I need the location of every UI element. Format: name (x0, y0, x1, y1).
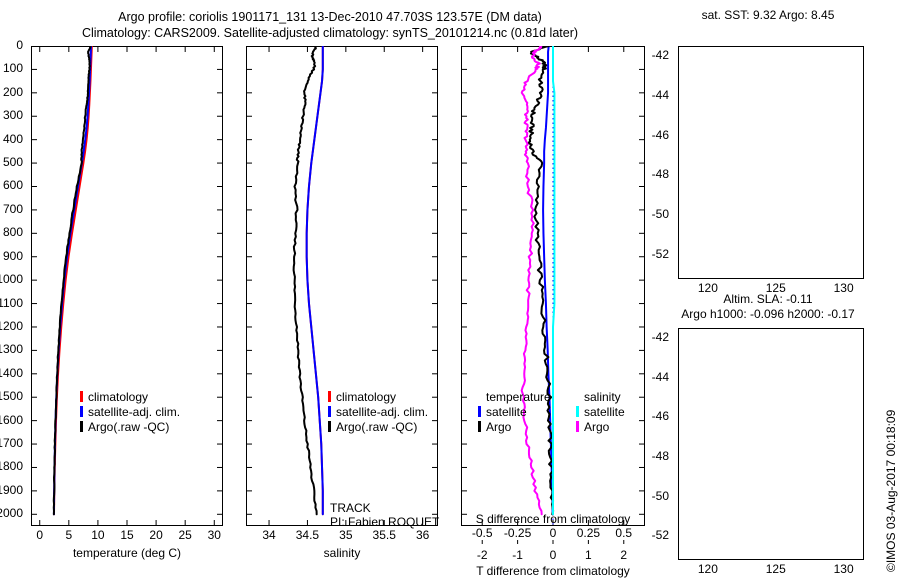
depth-tick-label: 700 (0, 202, 23, 216)
difference-legend-salinity: salinity satellite Argo (576, 390, 625, 435)
temperature-panel (31, 46, 223, 526)
depth-tick-label: 300 (0, 108, 23, 122)
legend-swatch-satellite-adj-s (328, 406, 331, 417)
sst-map-image (678, 46, 864, 279)
s-difference-axis-ticks: -0.5-0.2500.250.5 (461, 526, 645, 542)
depth-tick-label: 1900 (0, 483, 23, 497)
depth-tick-label: 1400 (0, 366, 23, 380)
legend-swatch-satellite-adj (80, 406, 83, 417)
depth-axis-ticks-1: 0100200300400500600700800900100011001200… (0, 46, 28, 526)
sst-lat-tick-label: -48 (636, 167, 669, 181)
sst-lat-tick-label: -52 (636, 247, 669, 261)
temperature-curves (31, 46, 223, 526)
legend-swatch-s-satellite (576, 406, 579, 417)
legend-label-s-satellite: satellite (584, 405, 625, 419)
sla-map-lon-ticks: 120125130 (678, 562, 864, 578)
t-difference-axis-label: T difference from climatology (461, 564, 645, 578)
track-label: TRACK (330, 501, 439, 515)
depth-tick-label: 1300 (0, 342, 23, 356)
salinity-curves (246, 46, 438, 526)
salinity-axis-ticks: 3434.53535.536 (246, 528, 438, 544)
salinity-axis-label: salinity (246, 546, 438, 560)
sla-lon-tick-label: 125 (751, 562, 801, 576)
sst-lat-tick-label: -50 (636, 207, 669, 221)
difference-legend-temperature: temperature satellite Argo (478, 390, 551, 435)
depth-tick-label: 900 (0, 249, 23, 263)
legend-item-climatology: climatology (80, 390, 180, 405)
depth-tick-label: 800 (0, 225, 23, 239)
depth-tick-label: 600 (0, 178, 23, 192)
legend-swatch-climatology-s (328, 391, 331, 402)
legend-item-satellite-adj: satellite-adj. clim. (80, 405, 180, 420)
track-annotation: TRACK PI: Fabien ROQUET (330, 501, 439, 529)
sla-lat-tick-label: -50 (636, 489, 669, 503)
depth-tick-label: 0 (0, 38, 23, 52)
legend-label-climatology-s: climatology (336, 390, 396, 404)
legend-swatch-s-argo (576, 421, 579, 432)
sst-lat-tick-label: -42 (636, 48, 669, 62)
legend-swatch-argo-s (328, 421, 331, 432)
legend-item-climatology-s: climatology (328, 390, 428, 405)
legend-item-s-satellite: satellite (576, 405, 625, 420)
depth-tick-label: 1700 (0, 436, 23, 450)
depth-tick-label: 1600 (0, 413, 23, 427)
depth-tick-label: 1100 (0, 296, 23, 310)
legend-item-s-argo: Argo (576, 420, 625, 435)
figure-title-line1: Argo profile: coriolis 1901171_131 13-De… (0, 10, 660, 24)
legend-label-s-argo: Argo (584, 420, 609, 434)
sst-map[interactable] (678, 46, 864, 279)
difference-panel (461, 46, 645, 526)
sla-map-title-line1: Altim. SLA: -0.11 (668, 292, 868, 306)
sla-map-title-line2: Argo h1000: -0.096 h2000: -0.17 (653, 307, 883, 321)
temperature-axis-label: temperature (deg C) (31, 546, 223, 560)
argo-profile-figure: Argo profile: coriolis 1901171_131 13-De… (0, 0, 900, 580)
sla-map-lat-ticks: -42-44-46-48-50-52 (640, 328, 673, 560)
legend-group-title-temperature: temperature (478, 390, 551, 405)
sla-map-image (678, 328, 864, 560)
temperature-tick-label: 30 (184, 528, 244, 542)
depth-tick-label: 1200 (0, 319, 23, 333)
salinity-tick-label: 36 (393, 528, 453, 542)
legend-group-title-salinity: salinity (576, 390, 625, 405)
legend-label-argo: Argo(.raw -QC) (88, 420, 169, 434)
sst-map-lat-ticks: -42-44-46-48-50-52 (640, 46, 673, 279)
legend-item-argo-s: Argo(.raw -QC) (328, 420, 428, 435)
legend-item-t-argo: Argo (478, 420, 551, 435)
legend-label-argo-s: Argo(.raw -QC) (336, 420, 417, 434)
legend-label-satellite-adj: satellite-adj. clim. (88, 405, 180, 419)
legend-swatch-argo (80, 421, 83, 432)
legend-label-satellite-adj-s: satellite-adj. clim. (336, 405, 428, 419)
sla-lon-tick-label: 130 (819, 562, 869, 576)
sst-map-title: sat. SST: 9.32 Argo: 8.45 (668, 8, 868, 22)
depth-tick-label: 1800 (0, 459, 23, 473)
temperature-legend: climatology satellite-adj. clim. Argo(.r… (80, 390, 180, 435)
sla-lat-tick-label: -44 (636, 370, 669, 384)
depth-tick-label: 2000 (0, 506, 23, 520)
sla-lat-tick-label: -46 (636, 409, 669, 423)
legend-item-argo: Argo(.raw -QC) (80, 420, 180, 435)
sst-lat-tick-label: -44 (636, 88, 669, 102)
sla-map[interactable] (678, 328, 864, 560)
depth-tick-label: 500 (0, 155, 23, 169)
temperature-axis-ticks: 051015202530 (31, 528, 223, 544)
difference-curves (461, 46, 645, 526)
legend-label-climatology: climatology (88, 390, 148, 404)
s-difference-axis-label: S difference from climatology (461, 512, 645, 526)
legend-swatch-t-satellite (478, 406, 481, 417)
sla-lon-tick-label: 120 (683, 562, 733, 576)
depth-tick-label: 100 (0, 61, 23, 75)
sst-lat-tick-label: -46 (636, 128, 669, 142)
sla-lat-tick-label: -48 (636, 449, 669, 463)
t-difference-axis-ticks: -2-1012 (461, 548, 645, 564)
salinity-legend: climatology satellite-adj. clim. Argo(.r… (328, 390, 428, 435)
pi-label: PI: Fabien ROQUET (330, 515, 439, 529)
depth-tick-label: 400 (0, 132, 23, 146)
depth-tick-label: 1500 (0, 389, 23, 403)
legend-item-satellite-adj-s: satellite-adj. clim. (328, 405, 428, 420)
depth-tick-label: 200 (0, 85, 23, 99)
salinity-panel (246, 46, 438, 526)
sla-lat-tick-label: -52 (636, 528, 669, 542)
legend-label-t-argo: Argo (486, 420, 511, 434)
legend-swatch-climatology (80, 391, 83, 402)
legend-swatch-t-argo (478, 421, 481, 432)
legend-item-t-satellite: satellite (478, 405, 551, 420)
depth-tick-label: 1000 (0, 272, 23, 286)
sla-lat-tick-label: -42 (636, 330, 669, 344)
legend-label-t-satellite: satellite (486, 405, 527, 419)
figure-title-line2: Climatology: CARS2009. Satellite-adjuste… (0, 26, 660, 40)
